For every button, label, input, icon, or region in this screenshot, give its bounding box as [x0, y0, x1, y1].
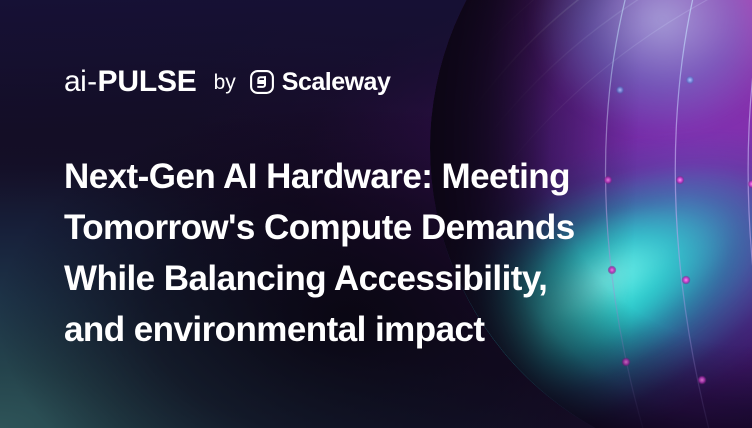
aipulse-wordmark: ai-PULSE — [64, 67, 197, 97]
headline-line-2: Tomorrow's Compute Demands — [64, 202, 689, 253]
page-title: Next-Gen AI Hardware: Meeting Tomorrow's… — [64, 151, 689, 355]
brand-by-text: by — [214, 72, 236, 93]
aipulse-pulse-text: PULSE — [98, 65, 197, 98]
scaleway-lockup[interactable]: Scaleway — [249, 69, 391, 95]
scaleway-logo-icon — [249, 69, 275, 95]
brand-lockup[interactable]: ai-PULSE by Scaleway — [64, 62, 390, 102]
aipulse-hyphen: - — [86, 65, 97, 98]
aipulse-ai-text: ai — [64, 65, 86, 98]
aipulse-event-banner: ai-PULSE by Scaleway Next-Gen AI Hardwar… — [0, 0, 752, 428]
banner-content: ai-PULSE by Scaleway Next-Gen AI Hardwar… — [0, 0, 752, 428]
headline-line-1: Next-Gen AI Hardware: Meeting — [64, 151, 689, 202]
headline-line-3: While Balancing Accessibility, — [64, 253, 689, 304]
scaleway-wordmark: Scaleway — [282, 70, 391, 95]
headline-line-4: and environmental impact — [64, 304, 689, 355]
